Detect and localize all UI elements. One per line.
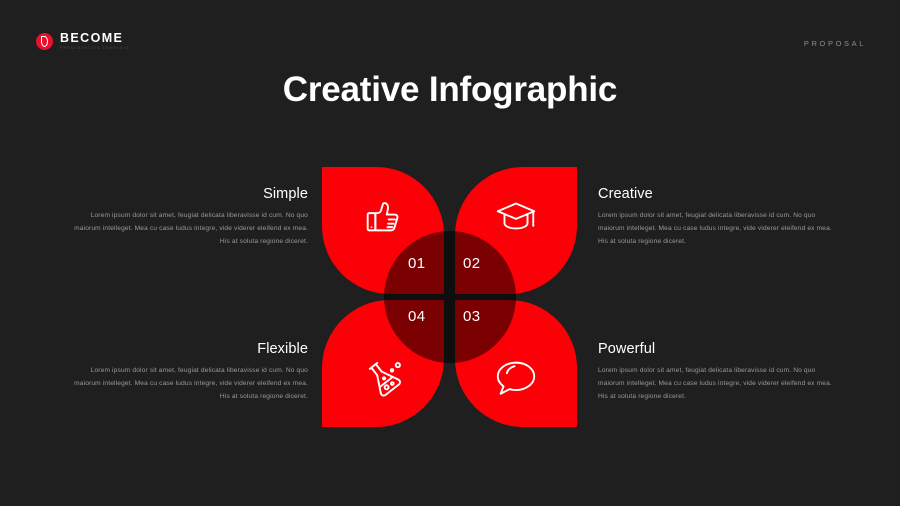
proposal-label: PROPOSAL [804, 39, 866, 48]
petal-simple[interactable] [322, 167, 444, 294]
heading-powerful: Powerful [598, 341, 838, 357]
become-b-mark-icon [36, 33, 53, 50]
petal-creative[interactable] [455, 167, 577, 294]
brand-logo[interactable]: BECOME PRESENTATION TEMPLATE [36, 32, 130, 51]
heading-simple: Simple [68, 186, 308, 202]
text-block-simple: Simple Lorem ipsum dolor sit amet, feugi… [68, 186, 308, 249]
petal-number-02: 02 [463, 255, 481, 272]
petal-number-03: 03 [463, 308, 481, 325]
logo-subtitle: PRESENTATION TEMPLATE [60, 47, 130, 51]
thumbs-up-icon [360, 193, 406, 239]
petal-number-04: 04 [408, 308, 426, 325]
body-simple: Lorem ipsum dolor sit amet, feugiat deli… [68, 210, 308, 249]
body-creative: Lorem ipsum dolor sit amet, feugiat deli… [598, 210, 838, 249]
logo-text: BECOME PRESENTATION TEMPLATE [60, 32, 130, 51]
page-title: Creative Infographic [0, 70, 900, 110]
speech-bubble-icon [493, 354, 539, 400]
heading-creative: Creative [598, 186, 838, 202]
text-block-powerful: Powerful Lorem ipsum dolor sit amet, feu… [598, 341, 838, 404]
heading-flexible: Flexible [68, 341, 308, 357]
text-block-flexible: Flexible Lorem ipsum dolor sit amet, feu… [68, 341, 308, 404]
slide-canvas: BECOME PRESENTATION TEMPLATE PROPOSAL Cr… [0, 0, 900, 506]
graduation-cap-icon [493, 193, 539, 239]
logo-name: BECOME [60, 32, 130, 45]
body-flexible: Lorem ipsum dolor sit amet, feugiat deli… [68, 365, 308, 404]
petal-flexible[interactable] [322, 300, 444, 427]
flask-icon [360, 354, 406, 400]
body-powerful: Lorem ipsum dolor sit amet, feugiat deli… [598, 365, 838, 404]
petal-number-01: 01 [408, 255, 426, 272]
flower-diagram: 01 02 03 04 [322, 167, 577, 427]
text-block-creative: Creative Lorem ipsum dolor sit amet, feu… [598, 186, 838, 249]
